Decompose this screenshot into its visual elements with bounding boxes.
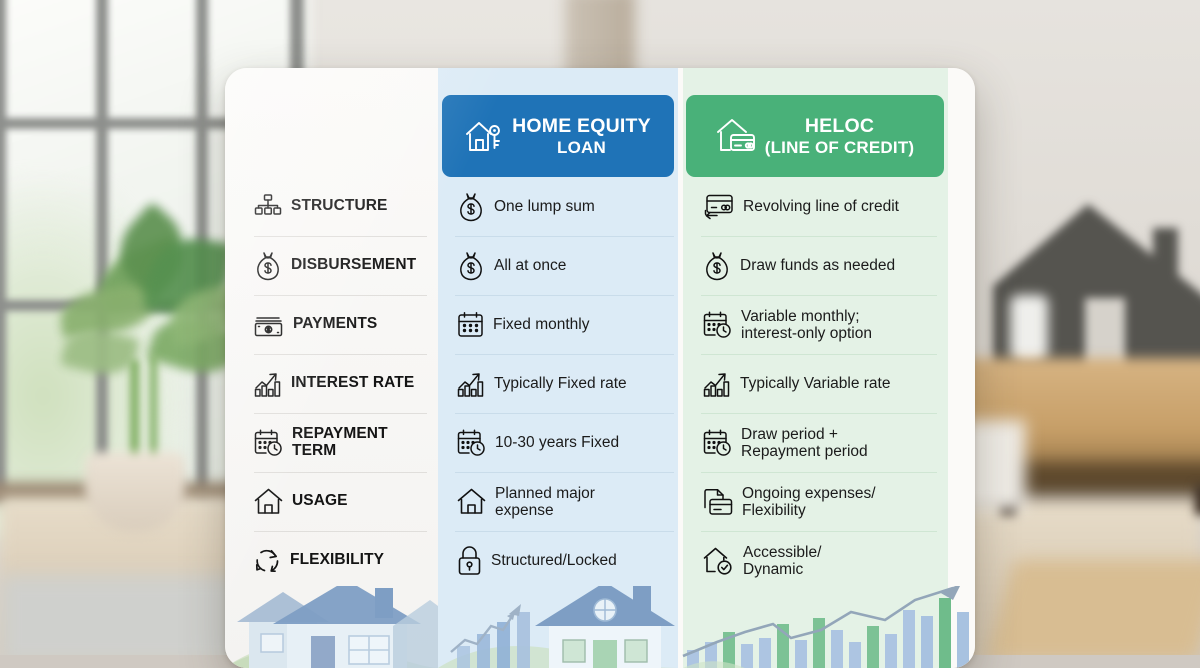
- table-row: STRUCTURE One lump sum Revolving line of…: [225, 177, 975, 236]
- calendar-clock-icon: [457, 429, 486, 457]
- table-row: INTEREST RATE Typically Fixed rate Typic…: [225, 354, 975, 413]
- calendar-clock-icon: [703, 311, 732, 339]
- bar-chart-arrow-icon: [457, 370, 485, 398]
- row-right-padding: [948, 354, 975, 413]
- heloc-header-title: HELOC: [805, 115, 874, 137]
- row-label-cell: PAYMENTS: [225, 295, 438, 354]
- row-label-text: FLEXIBILITY: [290, 552, 384, 569]
- credit-card-revolving-icon: [703, 193, 734, 220]
- table-row: PAYMENTS Fixed monthly Variable monthly;…: [225, 295, 975, 354]
- calendar-clock-icon: [254, 429, 283, 457]
- money-bag-icon: [254, 251, 282, 281]
- loan-value-text: All at once: [494, 257, 566, 274]
- row-label-text: DISBURSEMENT: [291, 257, 416, 274]
- house-key-icon: [465, 119, 503, 153]
- row-label-cell: INTEREST RATE: [225, 354, 438, 413]
- comparison-card: HOME EQUITY LOAN HELOC (LINE OF CREDIT): [225, 68, 975, 668]
- lock-icon: [457, 546, 482, 576]
- org-chart-icon: [254, 193, 282, 221]
- loan-value-cell: Typically Fixed rate: [438, 354, 683, 413]
- loan-value-cell: Planned majorexpense: [438, 472, 683, 531]
- money-bag-icon: [703, 251, 731, 281]
- bar-chart-arrow-icon: [254, 370, 282, 398]
- row-label-text: USAGE: [292, 493, 348, 510]
- heloc-value-text: Typically Variable rate: [740, 375, 890, 392]
- document-credit-card-icon: [703, 488, 733, 516]
- money-bag-icon: [457, 192, 485, 222]
- loan-value-cell: One lump sum: [438, 177, 683, 236]
- row-right-padding: [948, 295, 975, 354]
- heloc-value-cell: Revolving line of credit: [683, 177, 948, 236]
- row-right-padding: [948, 413, 975, 472]
- loan-value-text: One lump sum: [494, 198, 595, 215]
- loan-column-header: HOME EQUITY LOAN: [442, 95, 674, 177]
- comparison-rows: STRUCTURE One lump sum Revolving line of…: [225, 177, 975, 590]
- row-right-padding: [948, 177, 975, 236]
- house-icon: [457, 488, 486, 515]
- row-label-text: REPAYMENTTERM: [292, 426, 388, 459]
- heloc-value-cell: Accessible/Dynamic: [683, 531, 948, 590]
- row-label-cell: STRUCTURE: [225, 177, 438, 236]
- table-row: FLEXIBILITY Structured/Locked Accessible…: [225, 531, 975, 590]
- banknotes-icon: [254, 313, 284, 337]
- heloc-value-text: Variable monthly;interest-only option: [741, 308, 872, 342]
- loan-header-title: HOME EQUITY: [512, 115, 651, 137]
- calendar-clock-icon: [703, 429, 732, 457]
- loan-value-cell: Structured/Locked: [438, 531, 683, 590]
- heloc-value-text: Draw funds as needed: [740, 257, 895, 274]
- row-right-padding: [948, 531, 975, 590]
- calendar-icon: [457, 311, 484, 338]
- heloc-header-subtitle: (LINE OF CREDIT): [765, 137, 915, 158]
- row-label-text: INTEREST RATE: [291, 375, 414, 392]
- heloc-value-cell: Ongoing expenses/Flexibility: [683, 472, 948, 531]
- heloc-value-text: Draw period +Repayment period: [741, 426, 868, 460]
- house-credit-card-icon: [716, 118, 756, 154]
- loan-value-text: Structured/Locked: [491, 552, 617, 569]
- table-row: REPAYMENTTERM 10-30 years Fixed Draw per…: [225, 413, 975, 472]
- row-label-cell: FLEXIBILITY: [225, 531, 438, 590]
- heloc-value-text: Revolving line of credit: [743, 198, 899, 215]
- recycle-arrows-icon: [254, 547, 281, 574]
- table-row: DISBURSEMENT All at once Draw funds as n…: [225, 236, 975, 295]
- loan-value-cell: Fixed monthly: [438, 295, 683, 354]
- loan-value-cell: All at once: [438, 236, 683, 295]
- loan-header-subtitle: LOAN: [512, 137, 651, 158]
- heloc-value-cell: Draw period +Repayment period: [683, 413, 948, 472]
- loan-value-text: Planned majorexpense: [495, 485, 595, 519]
- heloc-value-cell: Variable monthly;interest-only option: [683, 295, 948, 354]
- row-label-cell: USAGE: [225, 472, 438, 531]
- house-icon: [254, 488, 283, 515]
- money-bag-icon: [457, 251, 485, 281]
- row-right-padding: [948, 236, 975, 295]
- row-right-padding: [948, 472, 975, 531]
- heloc-value-cell: Draw funds as needed: [683, 236, 948, 295]
- heloc-column-header: HELOC (LINE OF CREDIT): [686, 95, 944, 177]
- bar-chart-arrow-icon: [703, 370, 731, 398]
- heloc-value-cell: Typically Variable rate: [683, 354, 948, 413]
- loan-value-cell: 10-30 years Fixed: [438, 413, 683, 472]
- row-label-text: PAYMENTS: [293, 316, 377, 333]
- heloc-value-text: Ongoing expenses/Flexibility: [742, 485, 876, 519]
- loan-value-text: 10-30 years Fixed: [495, 434, 619, 451]
- loan-header-text: HOME EQUITY LOAN: [512, 115, 651, 158]
- heloc-header-text: HELOC (LINE OF CREDIT): [765, 115, 915, 158]
- heloc-value-text: Accessible/Dynamic: [743, 544, 821, 578]
- table-row: USAGE Planned majorexpense Ongoing expen…: [225, 472, 975, 531]
- loan-value-text: Fixed monthly: [493, 316, 589, 333]
- row-label-cell: REPAYMENTTERM: [225, 413, 438, 472]
- row-label-text: STRUCTURE: [291, 198, 387, 215]
- row-label-cell: DISBURSEMENT: [225, 236, 438, 295]
- loan-value-text: Typically Fixed rate: [494, 375, 627, 392]
- house-check-icon: [703, 547, 734, 575]
